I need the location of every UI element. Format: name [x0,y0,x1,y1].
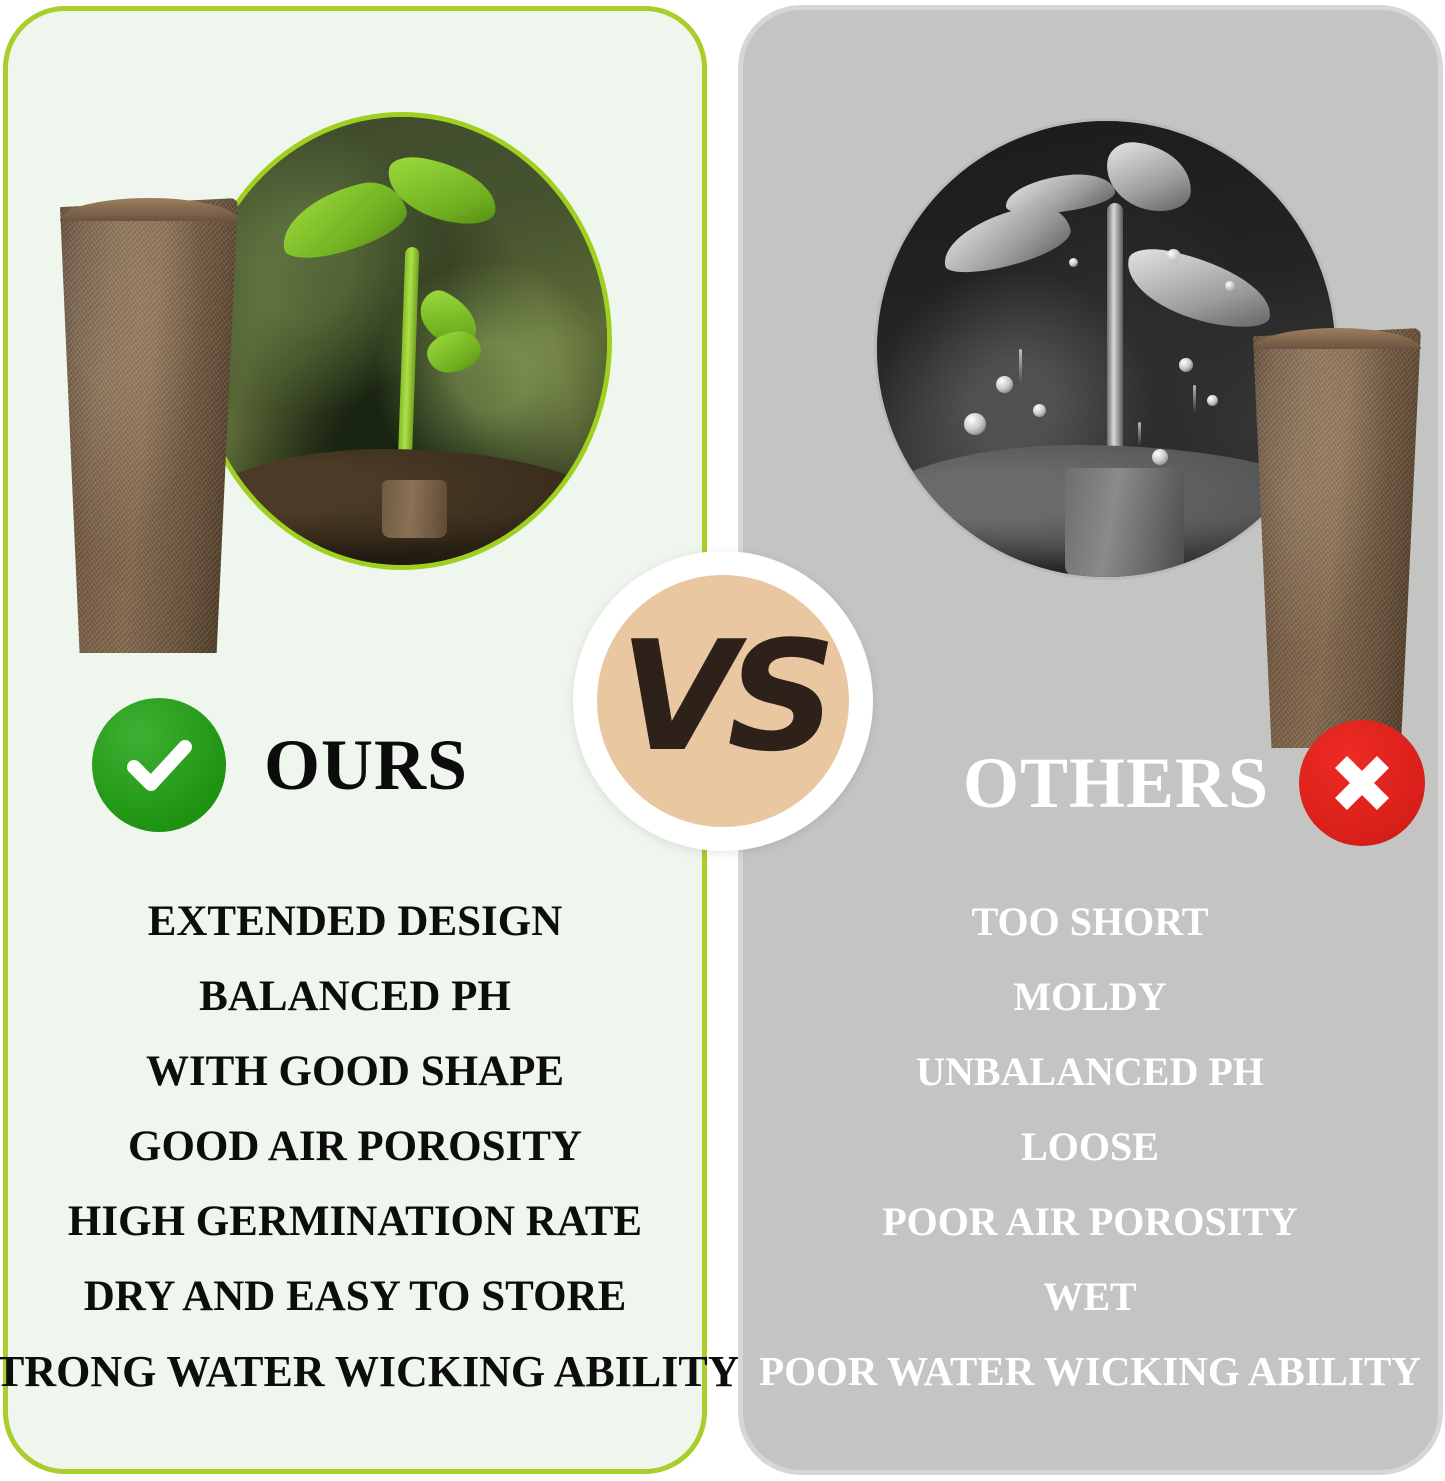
feature-item: LOOSE [1021,1109,1159,1184]
feature-item: STRONG WATER WICKING ABILITY [0,1334,740,1409]
pot-shape [1065,468,1184,577]
ours-verdict: OURS [92,698,468,832]
vs-badge-inner: VS [597,575,849,827]
cross-circle-icon [1299,720,1425,846]
plug-in-soil-shape [382,480,448,538]
feature-item: BALANCED PH [199,959,511,1034]
leaf-icon [273,174,412,265]
water-droplet-icon [1033,404,1046,417]
water-droplet-icon [996,376,1013,393]
feature-item: WET [1043,1259,1136,1334]
ours-soil-plug [60,198,238,653]
feature-item: EXTENDED DESIGN [148,884,563,959]
plug-body-shape [60,198,238,653]
feature-item: UNBALANCED PH [916,1034,1264,1109]
ours-label: OURS [264,729,468,801]
others-feature-list: TOO SHORT MOLDY UNBALANCED PH LOOSE POOR… [745,884,1435,1409]
water-droplet-icon [1069,258,1078,267]
vs-text: VS [619,621,826,773]
rain-streak [1019,349,1022,383]
leaf-icon [1120,243,1280,335]
feature-item: DRY AND EASY TO STORE [84,1259,627,1334]
others-label: OTHERS [963,747,1269,819]
feature-item: MOLDY [1013,959,1166,1034]
feature-item: POOR WATER WICKING ABILITY [759,1334,1421,1409]
water-droplet-icon [1207,395,1218,406]
rain-streak [1193,385,1196,413]
vs-badge: VS [573,551,873,851]
feature-item: TOO SHORT [972,884,1209,959]
others-verdict: OTHERS [963,720,1425,846]
ours-feature-list: EXTENDED DESIGN BALANCED PH WITH GOOD SH… [10,884,700,1409]
rain-streak [1138,422,1141,446]
water-droplet-icon [1225,281,1235,291]
feature-item: GOOD AIR POROSITY [128,1109,582,1184]
feature-item: HIGH GERMINATION RATE [68,1184,642,1259]
feature-item: POOR AIR POROSITY [882,1184,1298,1259]
check-circle-icon [92,698,226,832]
water-droplet-icon [1179,358,1193,372]
water-droplet-icon [1152,449,1168,465]
ours-product-photo [192,112,612,570]
stem-shape [1107,203,1123,486]
seedling-scene-color [197,117,607,565]
water-droplet-icon [1166,249,1181,264]
plug-body-shape [1253,328,1421,748]
feature-item: WITH GOOD SHAPE [146,1034,564,1109]
others-soil-plug [1253,328,1421,748]
leaf-icon [1004,170,1117,217]
water-droplet-icon [964,413,986,435]
